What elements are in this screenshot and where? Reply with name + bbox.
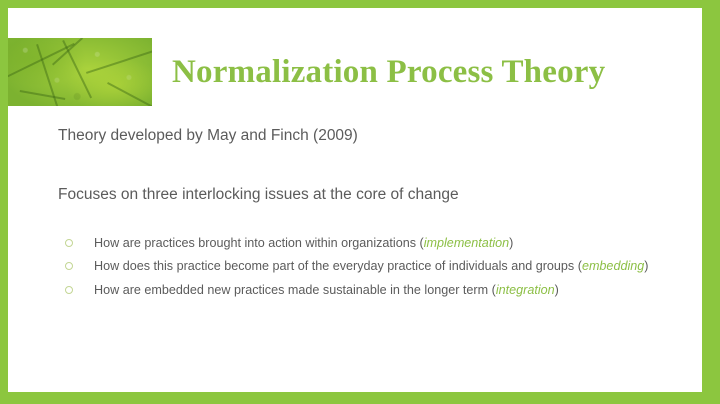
bullet-circle-icon — [65, 262, 73, 270]
slide-canvas: Normalization Process Theory Theory deve… — [8, 8, 702, 392]
lead-line-1: Theory developed by May and Finch (2009) — [58, 126, 682, 145]
bullet-list: How are practices brought into action wi… — [58, 235, 682, 299]
list-item-text: How are embedded new practices made sust… — [94, 283, 492, 297]
term-embedding: embedding — [582, 259, 644, 273]
list-item: How does this practice become part of th… — [58, 258, 654, 275]
slide-header: Normalization Process Theory — [8, 38, 702, 106]
list-item-text: How are practices brought into action wi… — [94, 236, 420, 250]
slide-body: Theory developed by May and Finch (2009)… — [58, 126, 682, 306]
leaf-photo-icon — [8, 38, 152, 106]
bullet-circle-icon — [65, 286, 73, 294]
lead-line-2: Focuses on three interlocking issues at … — [58, 185, 682, 204]
list-item: How are practices brought into action wi… — [58, 235, 654, 252]
close-paren: ) — [509, 236, 513, 250]
list-item-text: How does this practice become part of th… — [94, 259, 578, 273]
term-integration: integration — [496, 283, 555, 297]
close-paren: ) — [555, 283, 559, 297]
close-paren: ) — [644, 259, 648, 273]
bullet-circle-icon — [65, 239, 73, 247]
page-title: Normalization Process Theory — [172, 38, 605, 106]
slide-frame: Normalization Process Theory Theory deve… — [0, 0, 720, 404]
term-implementation: implementation — [424, 236, 509, 250]
list-item: How are embedded new practices made sust… — [58, 282, 654, 299]
